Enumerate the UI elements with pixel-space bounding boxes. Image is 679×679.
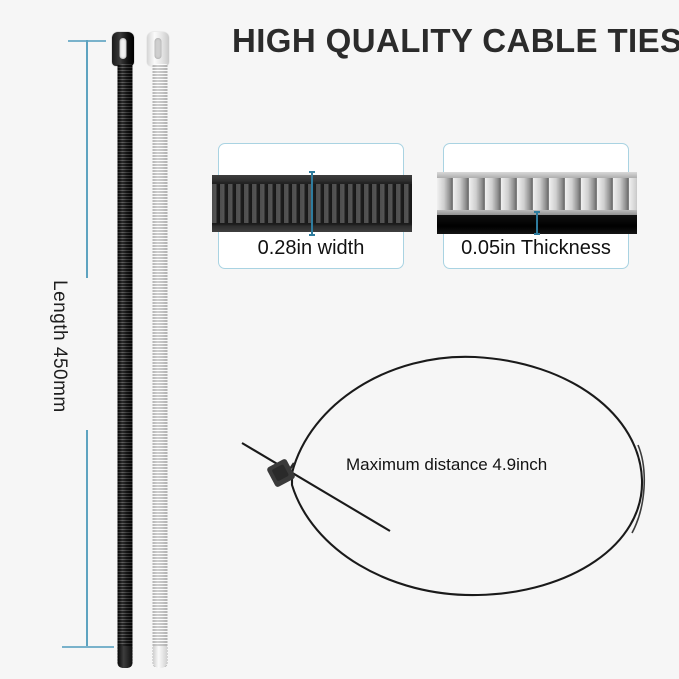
cable-tie-thickness-view (437, 172, 637, 234)
loop-svg (240, 345, 670, 610)
cable-tie-strap (118, 64, 133, 668)
cable-tie-strap (153, 64, 168, 668)
cable-tie-head-slot (155, 38, 162, 59)
black-cable-tie (112, 32, 138, 668)
width-caption: 0.28in width (219, 237, 403, 260)
page-title: HIGH QUALITY CABLE TIES (232, 22, 672, 60)
cable-tie-head-slot (120, 38, 127, 59)
thickness-caption: 0.05in Thickness (444, 237, 628, 260)
cable-tie-tip (118, 646, 132, 668)
cable-tie-loop-illustration: Maximum distance 4.9inch (240, 345, 670, 610)
cable-tie-teeth (437, 178, 637, 212)
cable-tie-width-view (212, 175, 412, 232)
dimension-label-backdrop (80, 278, 96, 430)
length-label: Length 450mm (48, 280, 70, 413)
dimension-tick-bottom (62, 646, 114, 648)
infographic-canvas: HIGH QUALITY CABLE TIES Length 450mm 0.2… (0, 0, 679, 679)
width-callout: 0.28in width (218, 143, 404, 269)
cable-tie-tip (153, 646, 167, 668)
width-measure-line (311, 171, 313, 236)
loop-caption: Maximum distance 4.9inch (346, 455, 547, 475)
loop-path (292, 357, 642, 595)
white-cable-tie (147, 32, 173, 668)
thickness-measure-line (536, 211, 538, 235)
cable-tie-head (147, 32, 169, 66)
cable-tie-head (112, 32, 134, 66)
thickness-callout: 0.05in Thickness (443, 143, 629, 269)
